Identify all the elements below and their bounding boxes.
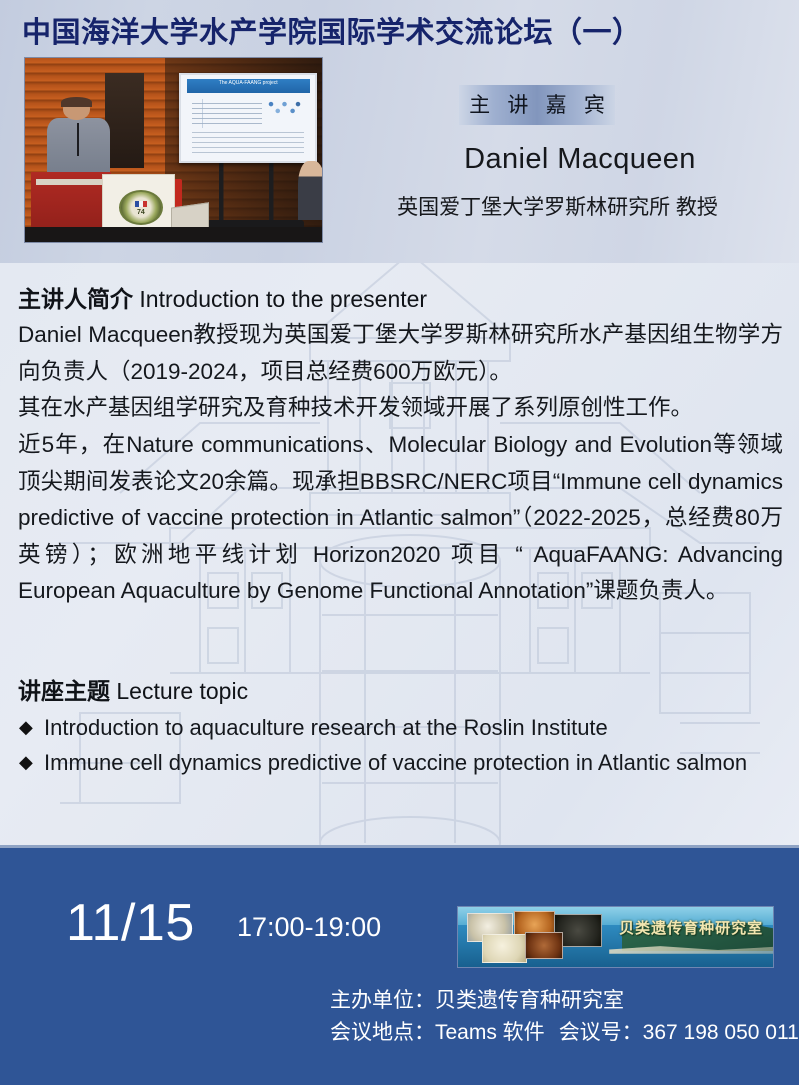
shellfish-clam-image — [482, 934, 527, 963]
body-area: 主讲人简介 Introduction to the presenter Dani… — [0, 263, 799, 848]
venue-label: 会议地点：Teams 软件 — [330, 1021, 545, 1044]
topic-list: ◆ Introduction to aquaculture research a… — [16, 711, 796, 781]
topic-heading-en: Lecture topic — [116, 678, 248, 704]
intro-heading-en: Introduction to the presenter — [139, 286, 427, 312]
topic-heading: 讲座主题 Lecture topic — [18, 672, 778, 706]
intro-heading: 主讲人简介 Introduction to the presenter — [18, 280, 778, 314]
intro-paragraph-3: 近5年，在Nature communications、Molecular Bio… — [18, 427, 783, 610]
photo-slide-icons — [262, 99, 307, 116]
list-item-label: Immune cell dynamics predictive of vacci… — [44, 750, 747, 775]
photo-screen-stand — [203, 159, 292, 229]
intro-paragraph-2: 其在水产基因组学研究及育种技术开发领域开展了系列原创性工作。 — [18, 390, 783, 427]
photo-emblem: 74 — [119, 190, 163, 225]
guest-badge: 主 讲 嘉 宾 — [459, 85, 615, 125]
photo-speaker-hair — [61, 97, 91, 108]
speaker-affiliation: 英国爱丁堡大学罗斯林研究所 教授 — [330, 191, 785, 221]
photo-slide-text — [192, 132, 304, 153]
diamond-bullet-icon: ◆ — [19, 746, 33, 779]
banner-lab-name: 贝类遗传育种研究室 — [616, 917, 767, 938]
event-date: 11/15 — [66, 893, 195, 953]
page-title: 中国海洋大学水产学院国际学术交流论坛（一） — [22, 9, 762, 51]
list-item: ◆ Introduction to aquaculture research a… — [16, 711, 796, 744]
body-content: 主讲人简介 Introduction to the presenter Dani… — [0, 263, 799, 848]
photo-speaker-lanyard — [72, 123, 84, 156]
header-band: 中国海洋大学水产学院国际学术交流论坛（一） The AQUA-FAANG pro… — [0, 0, 799, 263]
organizer-banner: 贝类遗传育种研究室 — [457, 906, 774, 968]
diamond-bullet-icon: ◆ — [19, 711, 33, 744]
photo-slide-title: The AQUA-FAANG project — [187, 79, 310, 89]
speaker-photo: The AQUA-FAANG project 74 — [24, 57, 323, 243]
intro-heading-cn: 主讲人简介 — [18, 286, 133, 312]
photo-slide-title-bar: The AQUA-FAANG project — [187, 79, 310, 93]
intro-paragraph-1: Daniel Macqueen教授现为英国爱丁堡大学罗斯林研究所水产基因组生物学… — [18, 317, 783, 390]
banner-shellfish-collage — [464, 911, 609, 964]
list-item-label: Introduction to aquaculture research at … — [44, 715, 608, 740]
poster-root: 中国海洋大学水产学院国际学术交流论坛（一） The AQUA-FAANG pro… — [0, 0, 799, 1085]
list-item: ◆ Immune cell dynamics predictive of vac… — [16, 746, 796, 779]
photo-floor — [25, 227, 322, 242]
event-time: 17:00-19:00 — [237, 912, 381, 943]
photo-emblem-number: 74 — [121, 209, 161, 216]
organizer-line: 主办单位：贝类遗传育种研究室 — [330, 984, 624, 1014]
speaker-name: Daniel Macqueen — [380, 143, 780, 176]
venue-line: 会议地点：Teams 软件会议号：367 198 050 011 — [330, 1016, 799, 1046]
photo-presentation-screen: The AQUA-FAANG project — [179, 73, 317, 163]
photo-emblem-flag — [135, 201, 147, 207]
photo-podium-banner — [36, 179, 107, 185]
shellfish-snail-image — [525, 932, 563, 959]
photo-slide-diagram — [192, 99, 261, 128]
photo-seated-person — [298, 161, 323, 220]
meeting-id-label: 会议号：367 198 050 011 — [559, 1021, 799, 1044]
topic-heading-cn: 讲座主题 — [18, 678, 110, 704]
guest-badge-label: 主 讲 嘉 宾 — [459, 85, 615, 125]
